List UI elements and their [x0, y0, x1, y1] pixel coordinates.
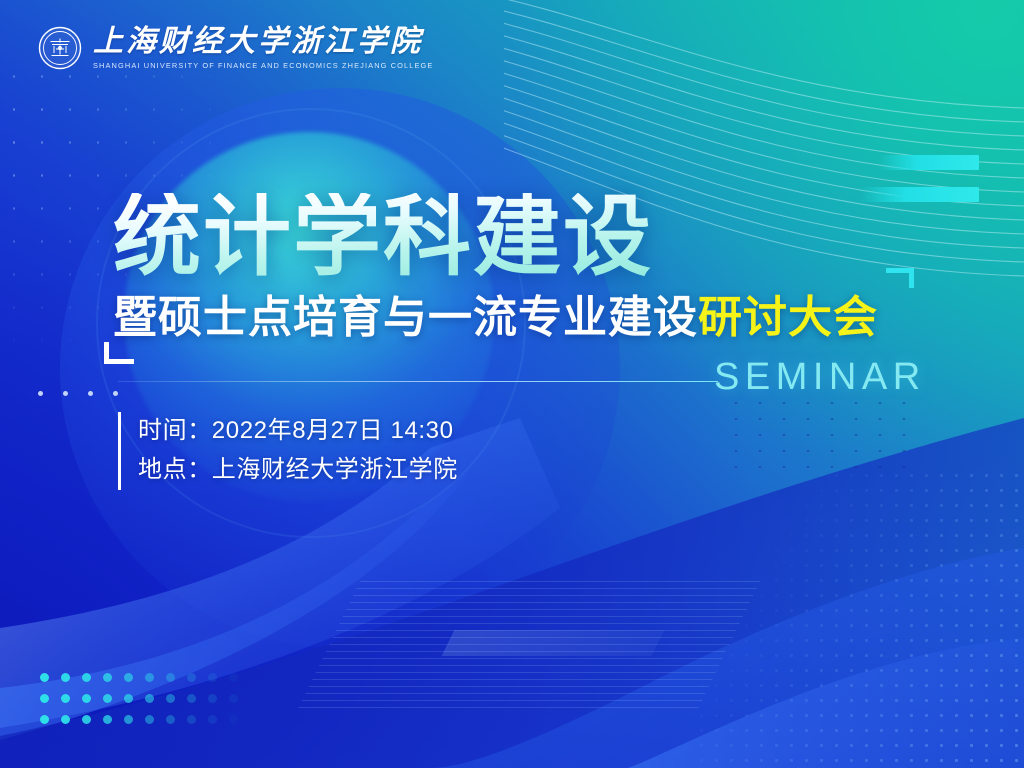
mini-dot — [63, 391, 68, 396]
mini-dot — [113, 391, 118, 396]
seminar-label: SEMINAR — [714, 356, 926, 399]
logo-text-block: 上海财经大学浙江学院 SHANGHAI UNIVERSITY OF FINANC… — [93, 26, 433, 70]
mini-dots-decoration — [38, 391, 118, 396]
main-title: 统计学科建设 — [113, 193, 653, 281]
poster-content: 统计学科建设 暨硕士点培育与一流专业建设研讨大会 SEMINAR 时间：2022… — [0, 0, 1024, 768]
subtitle-highlight: 研讨大会 — [698, 293, 878, 342]
subtitle: 暨硕士点培育与一流专业建设研讨大会 — [113, 295, 878, 341]
logo-name-cn: 上海财经大学浙江学院 — [93, 26, 433, 58]
university-seal-icon — [38, 26, 82, 70]
seminar-poster: 上海财经大学浙江学院 SHANGHAI UNIVERSITY OF FINANC… — [0, 0, 1024, 768]
mini-dot — [38, 391, 43, 396]
subtitle-plain: 暨硕士点培育与一流专业建设 — [113, 293, 698, 342]
corner-bracket-top-right-icon — [886, 268, 914, 288]
event-place: 地点：上海财经大学浙江学院 — [138, 451, 458, 490]
event-time: 时间：2022年8月27日 14:30 — [138, 412, 458, 451]
mini-dot — [88, 391, 93, 396]
corner-bracket-bottom-left-icon — [104, 342, 134, 364]
logo-name-en: SHANGHAI UNIVERSITY OF FINANCE AND ECONO… — [93, 61, 433, 70]
university-logo: 上海财经大学浙江学院 SHANGHAI UNIVERSITY OF FINANC… — [38, 26, 433, 70]
event-info-block: 时间：2022年8月27日 14:30 地点：上海财经大学浙江学院 — [118, 412, 458, 490]
divider-line — [118, 381, 718, 382]
